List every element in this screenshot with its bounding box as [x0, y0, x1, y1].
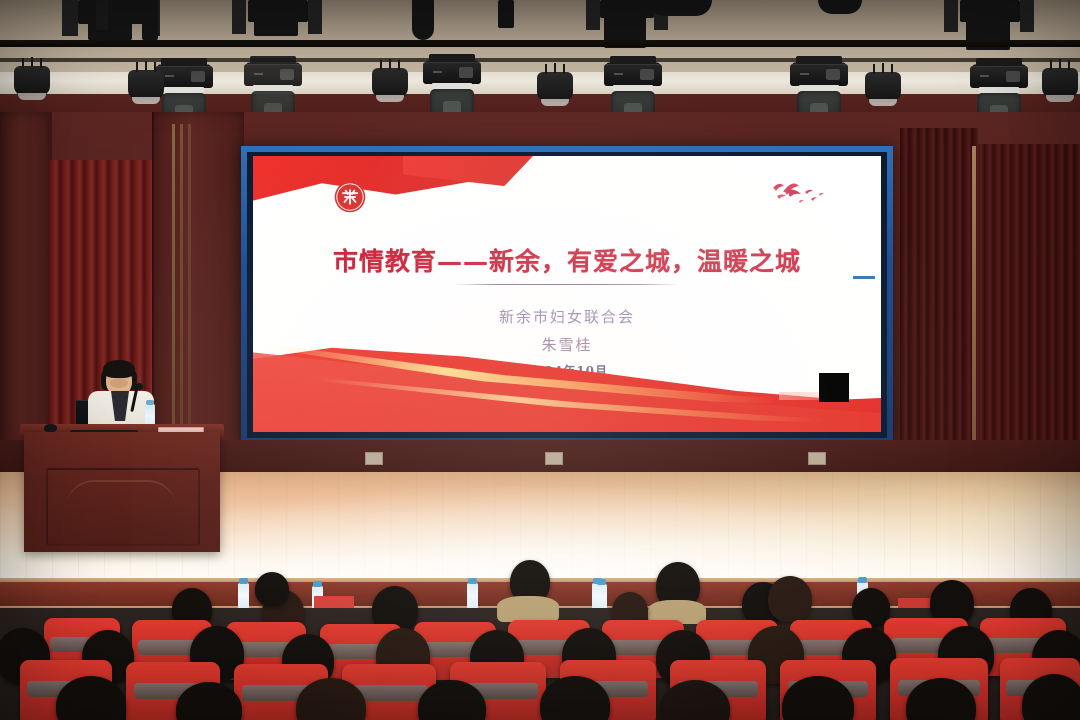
ceiling-shadow-band	[0, 0, 1080, 40]
slide-surface: 市情教育——新余，有爱之城，温暖之城 新余市妇女联合会 朱雪桂 2024年10月	[253, 156, 881, 432]
speaker-face-shadow	[110, 378, 128, 388]
ceiling-fixture-box	[254, 14, 298, 36]
led-display-screen[interactable]: 市情教育——新余，有爱之城，温暖之城 新余市妇女联合会 朱雪桂 2024年10月	[241, 146, 893, 444]
wall-vent	[808, 452, 826, 465]
audience-head	[255, 572, 289, 606]
light-base	[970, 66, 1028, 88]
microphone-head	[136, 383, 143, 390]
light-lip	[376, 95, 404, 102]
light-base	[423, 62, 481, 84]
womens-federation-emblem-icon	[333, 180, 367, 214]
lighting-truss	[0, 40, 1080, 47]
ceiling-fixture-fin	[308, 0, 322, 34]
par-can-light	[537, 72, 573, 102]
wall-vent	[545, 452, 563, 465]
ceiling-fixture-fin	[96, 0, 108, 30]
light-base	[604, 64, 662, 86]
light-bracket	[1059, 59, 1061, 69]
audience-shoulders	[497, 596, 559, 622]
speaker-water-bottle-cap	[146, 400, 154, 405]
light-bracket	[882, 63, 884, 73]
light-lip	[541, 99, 569, 106]
light-can	[372, 68, 408, 98]
podium-arc-detail	[66, 480, 176, 508]
light-lip	[18, 93, 46, 100]
light-can	[865, 72, 901, 102]
wall-gold-trim	[180, 124, 183, 454]
ceiling-fixture-fin	[944, 0, 958, 32]
light-bracket	[31, 57, 33, 67]
light-can	[14, 66, 50, 96]
wall-panel	[152, 112, 244, 464]
auditorium-photo: 市情教育——新余，有爱之城，温暖之城 新余市妇女联合会 朱雪桂 2024年10月	[0, 0, 1080, 720]
ceiling-fixture-fin	[232, 0, 246, 34]
title-divider	[455, 284, 679, 285]
light-bracket	[145, 61, 147, 71]
light-can	[128, 70, 164, 100]
ceiling-fixture-fin	[1020, 0, 1034, 32]
light-base	[790, 64, 848, 86]
wall-gold-trim	[188, 124, 191, 454]
par-can-light	[128, 70, 164, 100]
ceiling-fixture-box	[412, 0, 434, 40]
wall-vent	[365, 452, 383, 465]
par-can-light	[14, 66, 50, 96]
slide-title: 市情教育——新余，有爱之城，温暖之城	[253, 242, 881, 278]
slide-blue-accent-dash	[853, 276, 875, 279]
stage-curtain-right	[975, 144, 1080, 480]
flying-birds-icon	[743, 172, 839, 212]
slide-organization: 新余市妇女联合会	[253, 306, 881, 327]
light-bracket	[389, 59, 391, 69]
light-bracket	[554, 63, 556, 73]
light-can	[1042, 68, 1078, 98]
light-can	[537, 72, 573, 102]
wall-gold-trim	[172, 124, 175, 454]
par-can-light	[1042, 68, 1078, 98]
ceiling-fixture-box	[648, 0, 712, 16]
stage-curtain-right-outer	[900, 128, 978, 472]
audience-head	[768, 576, 812, 622]
ceiling-fixture-box	[142, 0, 158, 40]
light-lip	[1046, 95, 1074, 102]
par-can-light	[372, 68, 408, 98]
ceiling-fixture-fin	[586, 0, 600, 30]
light-base	[244, 64, 302, 86]
wall-gold-trim	[972, 146, 976, 476]
light-lip	[869, 99, 897, 106]
mouse-icon	[44, 424, 57, 432]
wall-panel	[0, 112, 50, 464]
speaker-hair	[103, 360, 135, 378]
ceiling-fixture-box	[88, 14, 132, 40]
ceiling-fixture-fin	[62, 0, 78, 36]
ceiling-fixture-box	[498, 0, 514, 28]
par-can-light	[865, 72, 901, 102]
redaction-block	[819, 373, 849, 402]
light-lip	[132, 97, 160, 104]
